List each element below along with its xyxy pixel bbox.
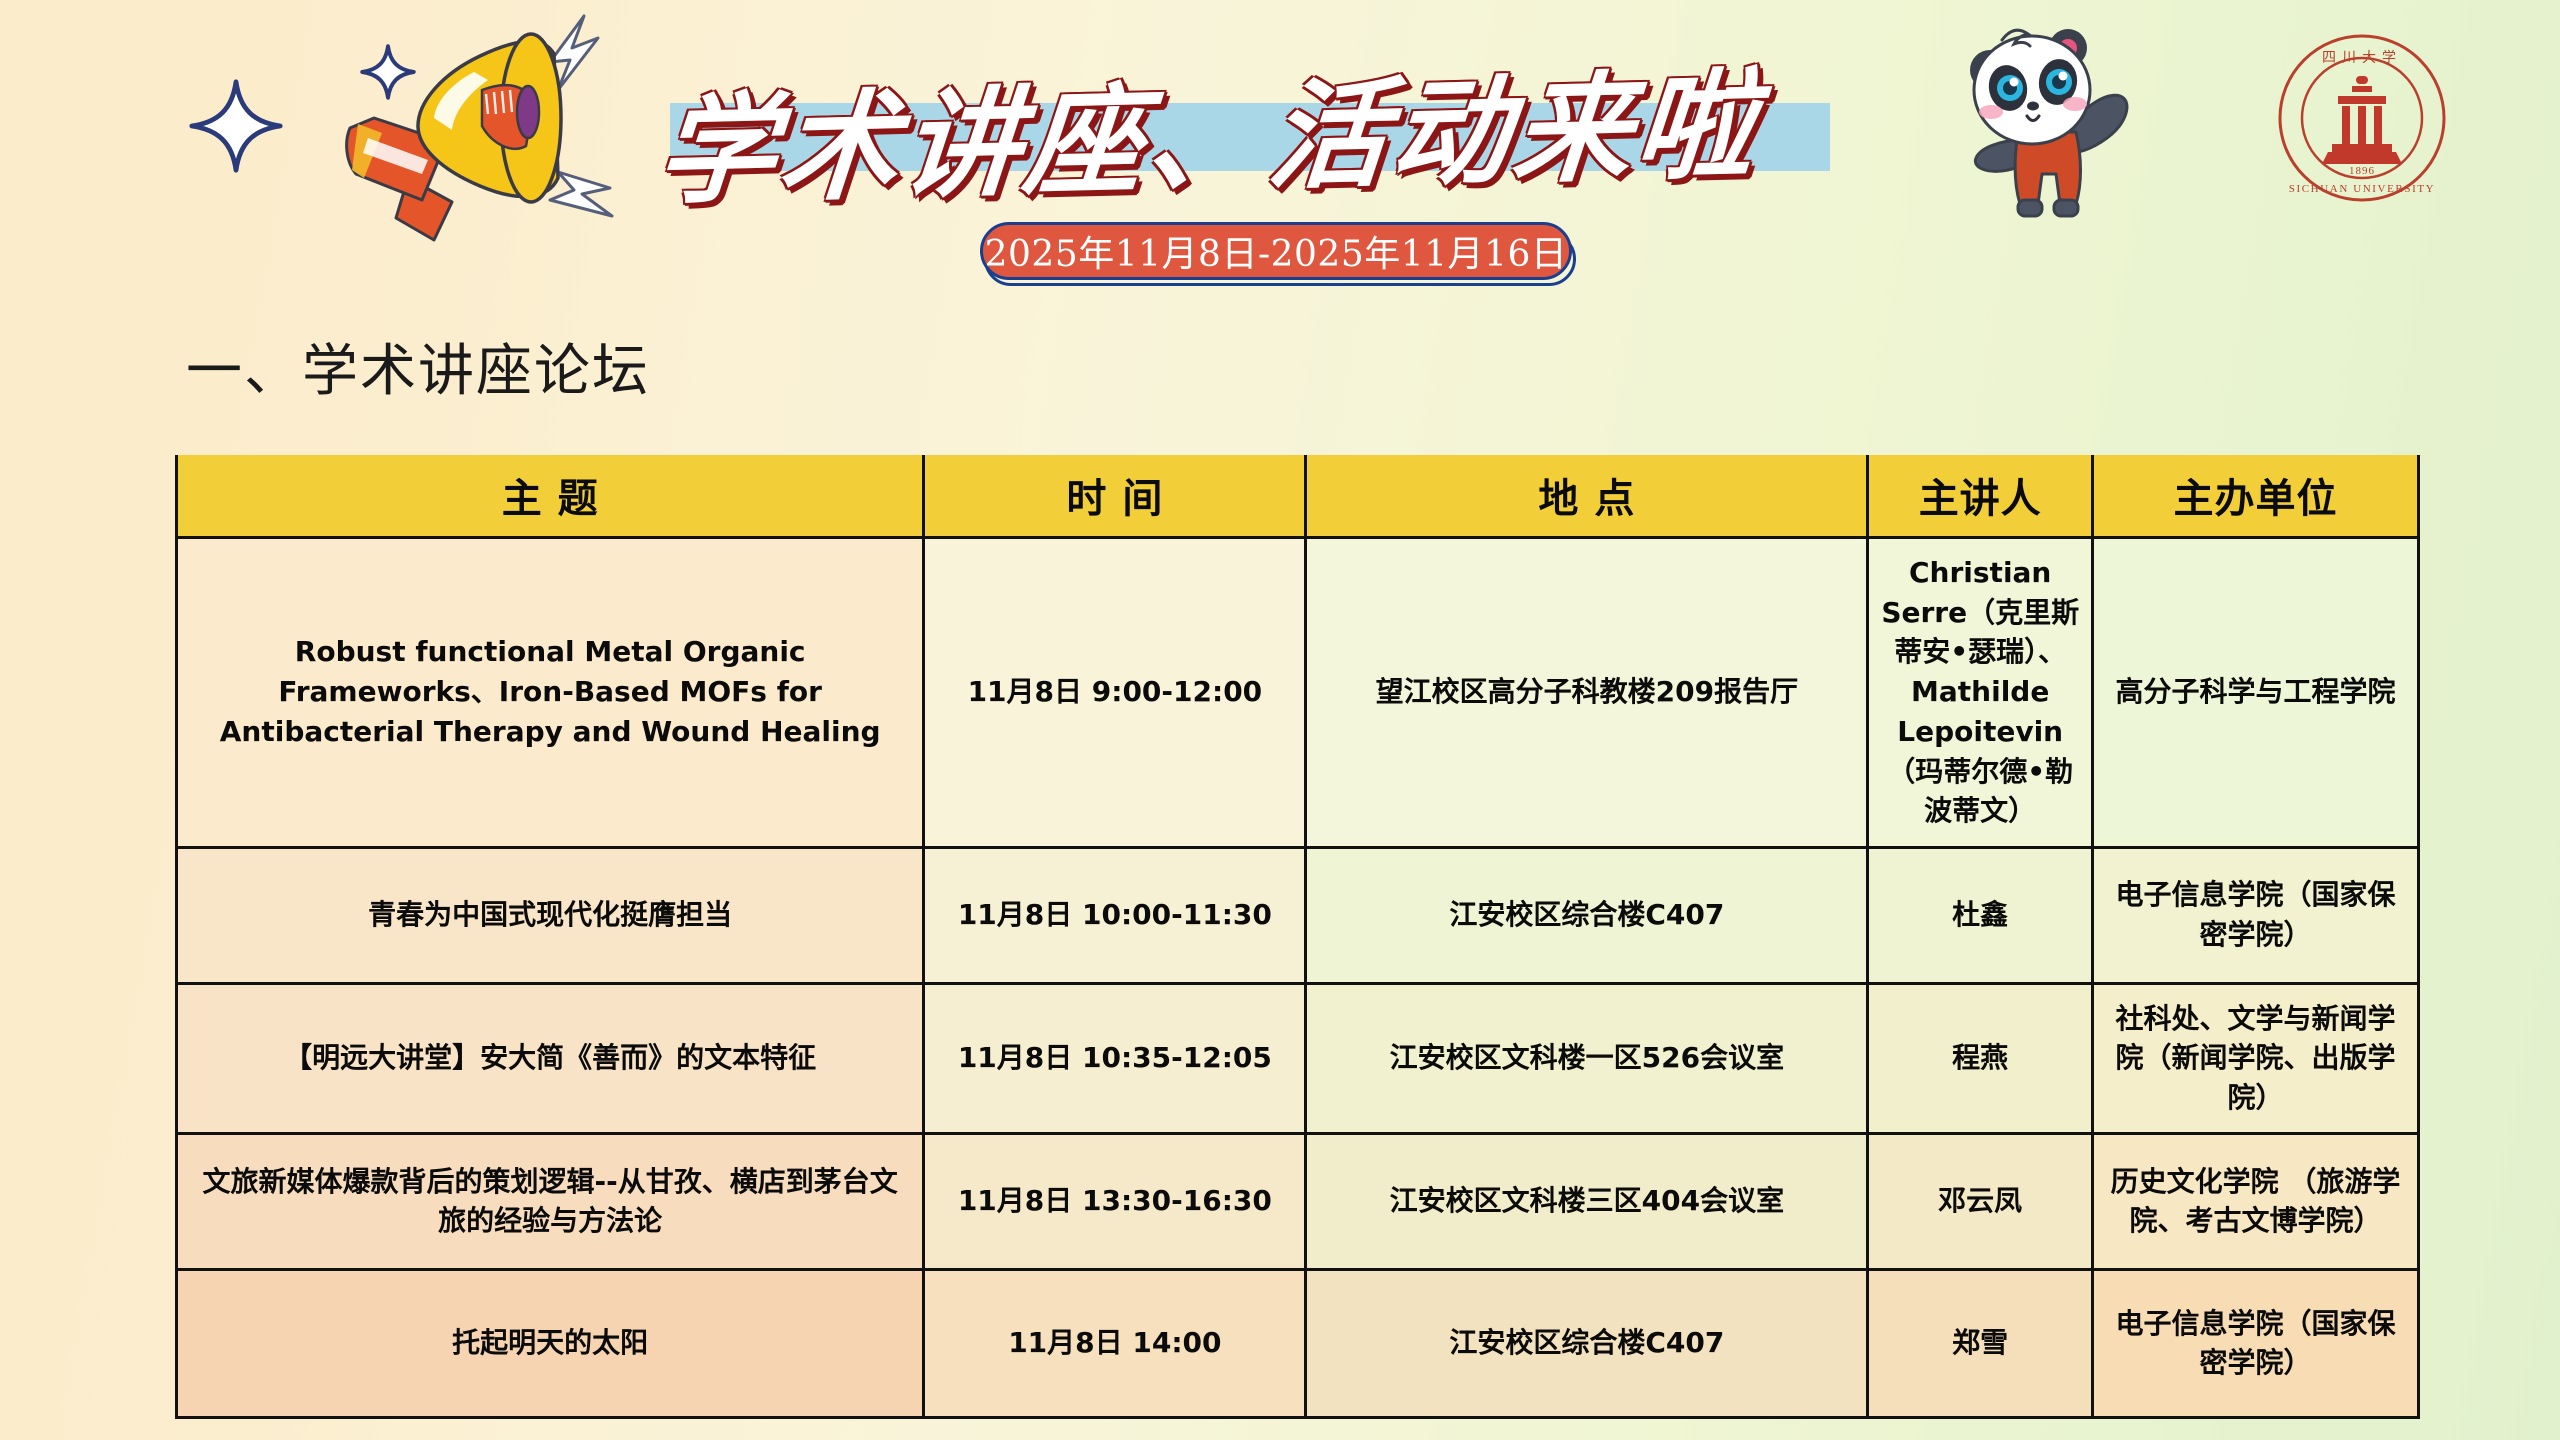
- cell-speaker: 杜鑫: [1868, 847, 2093, 983]
- table-row: 托起明天的太阳 11月8日 14:00 江安校区综合楼C407 郑雪 电子信息学…: [177, 1269, 2419, 1417]
- section-heading: 一、学术讲座论坛: [186, 326, 650, 407]
- poster-title: 学术讲座、活动来啦: [652, 24, 1949, 225]
- cell-topic: 托起明天的太阳: [177, 1269, 924, 1417]
- schedule-table-wrapper: 主 题 时 间 地 点 主讲人 主办单位 Robust functional M…: [175, 455, 2420, 1419]
- cell-time: 11月8日 13:30-16:30: [924, 1133, 1306, 1269]
- poster-title-group: 学术讲座、活动来啦: [660, 40, 1940, 210]
- column-header-topic: 主 题: [177, 455, 924, 537]
- cell-host: 社科处、文学与新闻学院（新闻学院、出版学院）: [2093, 983, 2419, 1133]
- poster-header: 学术讲座、活动来啦 2025年11月8日-2025年11月16日: [0, 0, 2560, 310]
- panda-mascot-icon: [1928, 8, 2168, 248]
- cell-speaker: 程燕: [1868, 983, 2093, 1133]
- cell-place: 江安校区文科楼三区404会议室: [1306, 1133, 1868, 1269]
- table-row: 【明远大讲堂】安大简《善而》的文本特征 11月8日 10:35-12:05 江安…: [177, 983, 2419, 1133]
- cell-time: 11月8日 10:35-12:05: [924, 983, 1306, 1133]
- svg-text:1896: 1896: [2349, 165, 2375, 177]
- cell-place: 望江校区高分子科教楼209报告厅: [1306, 537, 1868, 847]
- column-header-time: 时 间: [924, 455, 1306, 537]
- cell-place: 江安校区综合楼C407: [1306, 847, 1868, 983]
- table-row: Robust functional Metal Organic Framewor…: [177, 537, 2419, 847]
- cell-place: 江安校区文科楼一区526会议室: [1306, 983, 1868, 1133]
- cell-time: 11月8日 9:00-12:00: [924, 537, 1306, 847]
- column-header-speaker: 主讲人: [1868, 455, 2093, 537]
- table-row: 文旅新媒体爆款背后的策划逻辑--从甘孜、横店到茅台文旅的经验与方法论 11月8日…: [177, 1133, 2419, 1269]
- cell-place: 江安校区综合楼C407: [1306, 1269, 1868, 1417]
- cell-host: 高分子科学与工程学院: [2093, 537, 2419, 847]
- sparkle-icon: [188, 78, 284, 174]
- cell-topic: Robust functional Metal Organic Framewor…: [177, 537, 924, 847]
- cell-time: 11月8日 10:00-11:30: [924, 847, 1306, 983]
- cell-speaker: Christian Serre（克里斯蒂安•瑟瑞）、Mathilde Lepoi…: [1868, 537, 2093, 847]
- table-header-row: 主 题 时 间 地 点 主讲人 主办单位: [177, 455, 2419, 537]
- date-range-badge: 2025年11月8日-2025年11月16日: [980, 222, 1580, 286]
- column-header-place: 地 点: [1306, 455, 1868, 537]
- megaphone-icon: [322, 2, 662, 252]
- cell-time: 11月8日 14:00: [924, 1269, 1306, 1417]
- table-row: 青春为中国式现代化挺膺担当 11月8日 10:00-11:30 江安校区综合楼C…: [177, 847, 2419, 983]
- cell-speaker: 郑雪: [1868, 1269, 2093, 1417]
- cell-host: 电子信息学院（国家保密学院）: [2093, 1269, 2419, 1417]
- cell-host: 历史文化学院 （旅游学院、考古文博学院）: [2093, 1133, 2419, 1269]
- cell-host: 电子信息学院（国家保密学院）: [2093, 847, 2419, 983]
- cell-topic: 文旅新媒体爆款背后的策划逻辑--从甘孜、横店到茅台文旅的经验与方法论: [177, 1133, 924, 1269]
- cell-speaker: 邓云凤: [1868, 1133, 2093, 1269]
- schedule-table: 主 题 时 间 地 点 主讲人 主办单位 Robust functional M…: [175, 455, 2420, 1419]
- cell-topic: 【明远大讲堂】安大简《善而》的文本特征: [177, 983, 924, 1133]
- column-header-host: 主办单位: [2093, 455, 2419, 537]
- sichuan-university-logo: 1896 四川大学 SICHUAN UNIVERSITY: [2276, 32, 2448, 204]
- svg-text:四川大学: 四川大学: [2322, 50, 2402, 66]
- date-range-text: 2025年11月8日-2025年11月16日: [980, 222, 1572, 280]
- svg-text:SICHUAN UNIVERSITY: SICHUAN UNIVERSITY: [2289, 183, 2435, 195]
- cell-topic: 青春为中国式现代化挺膺担当: [177, 847, 924, 983]
